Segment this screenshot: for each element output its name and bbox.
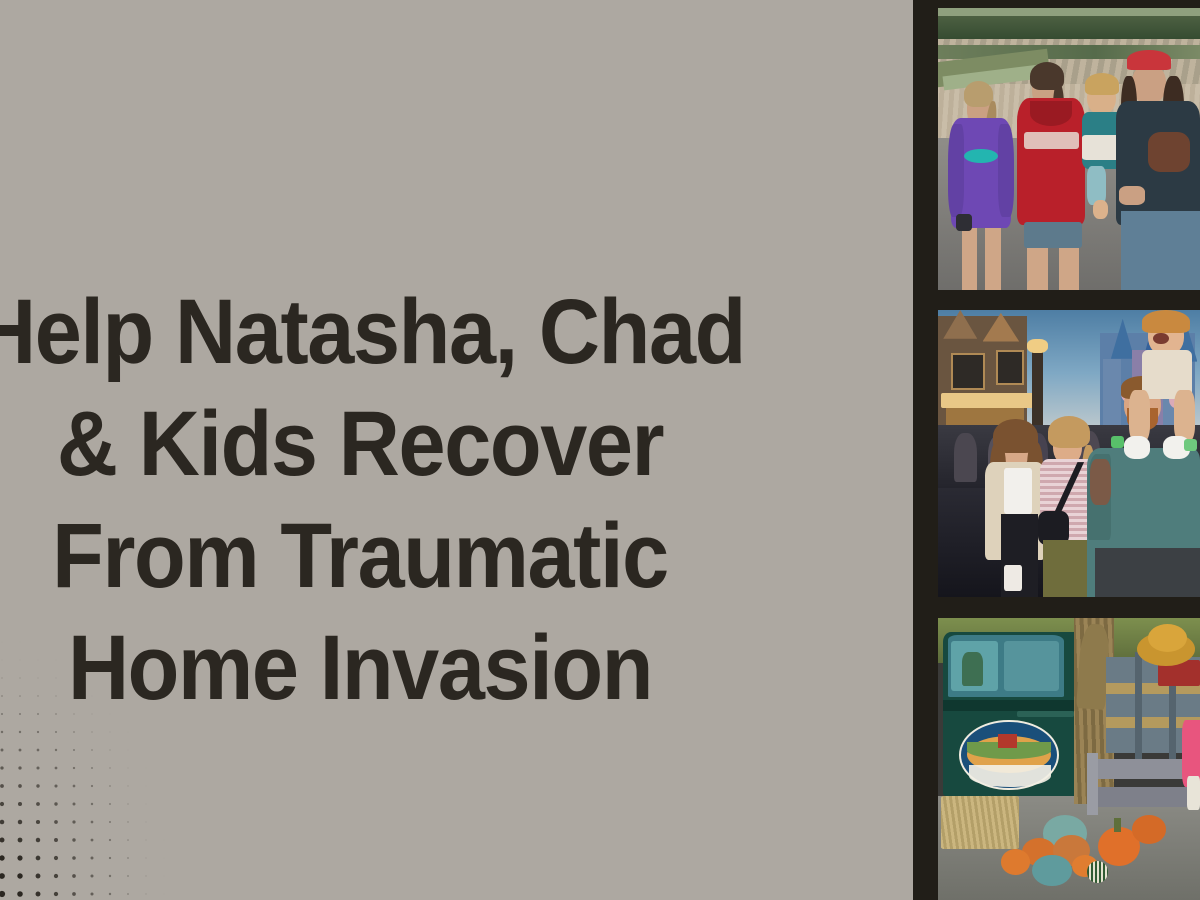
photo-family-roadside — [938, 8, 1200, 290]
photo-pumpkin-patch — [938, 618, 1200, 900]
photo-disney-world — [938, 310, 1200, 597]
photo-collage-rail — [913, 0, 1200, 900]
photo-3-scene — [938, 618, 1200, 900]
photo-2-scene — [938, 310, 1200, 597]
poster-canvas: Help Natasha, Chad & Kids Recover From T… — [0, 0, 1200, 900]
page-title: Help Natasha, Chad & Kids Recover From T… — [0, 276, 746, 724]
headline-line-3: From Traumatic — [0, 500, 746, 612]
photo-1-scene — [938, 8, 1200, 290]
headline-line-2: & Kids Recover — [0, 388, 746, 500]
headline-line-4: Home Invasion — [0, 612, 746, 724]
headline-line-1: Help Natasha, Chad — [0, 276, 746, 388]
